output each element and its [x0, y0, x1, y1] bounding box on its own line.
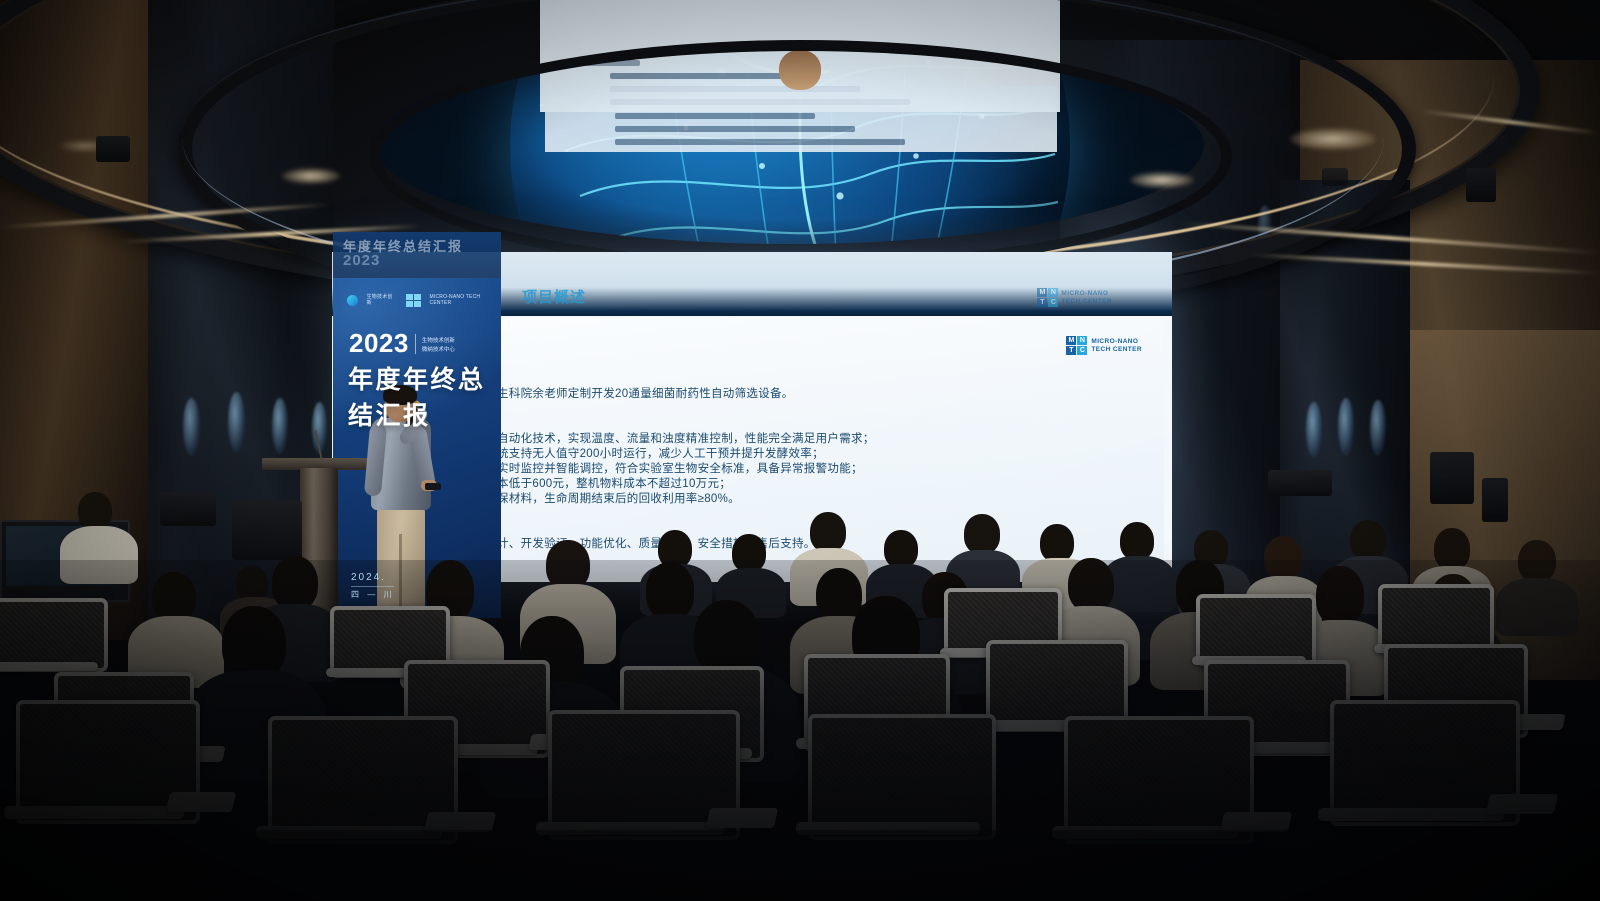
audience-shadow-overlay — [0, 560, 1600, 901]
bullet-goals-4: 单次运行成本低于600元，整机物料成本不超过10万元； — [438, 477, 1134, 492]
oval-wall-light — [228, 392, 245, 452]
banner-logo-squares — [406, 294, 421, 307]
logo-square-m: M — [1066, 336, 1076, 345]
logo-square-n: N — [1048, 288, 1058, 297]
slide-logo-text: MICRO-NANO TECH CENTER — [1091, 338, 1142, 354]
bullet-goals-5: 耗材采用环保材料，生命周期结束后的回收利用率≥80%。 — [438, 492, 1134, 507]
person-head — [810, 512, 846, 552]
ceiling-reflected-person — [779, 50, 821, 90]
slide-logo-squares: M N T C — [1066, 336, 1087, 355]
banner-subtitle-block: 生物技术创新 微纳技术中心 — [422, 338, 455, 356]
slide-logo-line1: MICRO-NANO — [1091, 338, 1142, 346]
logo-square-n — [414, 294, 421, 300]
floor-speaker — [1482, 478, 1508, 522]
banner-logo-row: 生物技术创新 MICRO-NANO TECH CENTER — [347, 294, 501, 307]
banner-date: 2024. — [351, 572, 394, 583]
logo-square-m — [406, 294, 413, 300]
banner-divider — [415, 334, 416, 354]
person-head — [1040, 524, 1074, 562]
presenter-clicker — [425, 483, 441, 490]
band-logo-line1: MICRO-NANO — [1061, 290, 1112, 298]
banner-subline-1: 生物技术创新 — [422, 338, 455, 345]
logo-square-c: C — [1077, 346, 1087, 355]
banner-year: 2023 — [349, 330, 409, 356]
logo-square-n: N — [1077, 336, 1087, 345]
floor-speaker — [1430, 452, 1474, 504]
logo-square-c: C — [1048, 298, 1058, 307]
banner-main-title: 年度年终总结汇报 — [348, 360, 501, 432]
company-mark-icon — [347, 295, 358, 306]
oval-wall-light — [1258, 205, 1272, 245]
banner-date-sub: 四 — 川 — [351, 586, 394, 600]
bullet-goals-3: 嵌入式软件实时监控并智能调控，符合实验室生物安全标准，具备异常报警功能； — [438, 462, 1134, 477]
ceiling-speaker — [1322, 168, 1348, 186]
oval-wall-light — [1338, 398, 1354, 456]
banner-logo-cn: 生物技术创新 — [367, 294, 397, 306]
oval-wall-light — [183, 398, 200, 456]
recessed-ceiling-light — [282, 168, 340, 184]
band-logo: M N T C MICRO-NANO TECH CENTER — [1037, 288, 1112, 307]
bullet-goals-2: 连续培养系统支持无人值守200小时运行，减少人工干预并提升发酵效率； — [438, 447, 1134, 462]
ceiling-mirror-slide-reflection-2 — [545, 86, 1057, 152]
band-logo-squares: M N T C — [1037, 288, 1058, 307]
oval-wall-light — [272, 398, 288, 454]
logo-square-t: T — [1037, 298, 1047, 307]
floor-equipment — [232, 500, 302, 560]
banner-glass-reflection: 年度年终总结汇报 2023 — [333, 232, 501, 280]
banner-subline-2: 微纳技术中心 — [422, 347, 455, 354]
slide-logo-line2: TECH CENTER — [1091, 346, 1142, 354]
oval-wall-light — [1306, 402, 1322, 458]
logo-square-t — [406, 301, 413, 307]
section-heading-background: 项目背景: — [410, 366, 1134, 385]
banner-date-block: 2024. 四 — 川 — [351, 572, 394, 600]
recessed-ceiling-light — [1130, 172, 1194, 188]
banner-ghost-line2: 2023 — [343, 252, 380, 269]
floor-equipment — [1268, 470, 1332, 496]
person-head — [1350, 520, 1386, 560]
banner-logo-en: MICRO-NANO TECH CENTER — [430, 294, 501, 306]
recessed-ceiling-light — [1290, 128, 1376, 150]
auditorium-screenshot: 项目概述 M N T C MICRO-NANO TECH CENTER 项目概述… — [0, 0, 1600, 901]
section-heading-goals: 项目目标: — [410, 411, 1134, 430]
bullet-goals-1: 集成生物与自动化技术，实现温度、流量和浊度精准控制，性能完全满足用户需求； — [438, 432, 1134, 447]
logo-square-m: M — [1037, 288, 1047, 297]
ceiling-speaker — [1466, 168, 1496, 202]
band-logo-text: MICRO-NANO TECH CENTER — [1061, 290, 1112, 306]
oval-wall-light — [1370, 400, 1386, 456]
slide-logo: M N T C MICRO-NANO TECH CENTER — [1066, 336, 1142, 355]
band-logo-line2: TECH CENTER — [1061, 298, 1112, 306]
person-head — [78, 492, 112, 530]
floor-equipment — [160, 492, 216, 526]
person-head — [964, 514, 1000, 554]
person-head — [1120, 522, 1154, 560]
logo-square-t: T — [1066, 346, 1076, 355]
logo-square-c — [414, 301, 421, 307]
banner-year-row: 2023 生物技术创新 微纳技术中心 — [349, 330, 455, 356]
band-slide-title: 项目概述 — [522, 286, 586, 307]
bullet-background-1: 为四川农大生科院余老师定制开发20通量细菌耐药性自动筛选设备。 — [438, 387, 1134, 402]
ceiling-speaker — [96, 136, 130, 162]
